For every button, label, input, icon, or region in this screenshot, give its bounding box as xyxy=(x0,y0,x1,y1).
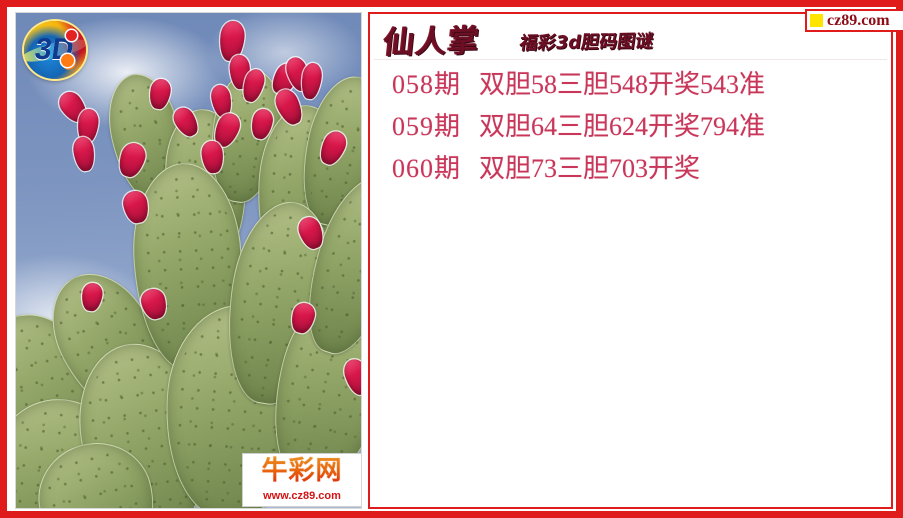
lottery-3d-ball-logo: 3D xyxy=(24,21,86,79)
prediction-body: 双胆73三胆703开奖 xyxy=(479,154,700,183)
brand-badge: cz89.com xyxy=(805,9,903,32)
prediction-content-panel: 仙人掌 福彩3d胆码图谜 058期双胆58三胆548开奖543准 059期双胆6… xyxy=(368,12,893,509)
brand-badge-label: cz89.com xyxy=(827,13,890,29)
list-item: 058期双胆58三胆548开奖543准 xyxy=(370,72,891,98)
prediction-list: 058期双胆58三胆548开奖543准 059期双胆64三胆624开奖794准 … xyxy=(370,58,891,182)
list-item: 059期双胆64三胆624开奖794准 xyxy=(370,114,891,140)
prediction-period: 060期 xyxy=(392,154,461,183)
prediction-period: 058期 xyxy=(392,70,461,99)
title-divider xyxy=(374,59,887,60)
site-watermark: 牛彩网 www.cz89.com xyxy=(242,453,362,507)
prediction-period: 059期 xyxy=(392,112,461,141)
poster-frame: 3D 牛彩网 www.cz89.com 仙人掌 福彩3d胆码图谜 058期双胆5… xyxy=(0,0,903,518)
list-item: 060期双胆73三胆703开奖 xyxy=(370,156,891,182)
brand-swatch-icon xyxy=(810,14,823,27)
cactus-photo-panel: 3D 牛彩网 www.cz89.com xyxy=(15,12,362,509)
prediction-body: 双胆64三胆624开奖794准 xyxy=(479,112,765,141)
watermark-url: www.cz89.com xyxy=(243,488,361,504)
watermark-site-name: 牛彩网 xyxy=(243,454,361,488)
logo-orange-dot-icon xyxy=(61,54,74,67)
prediction-body: 双胆58三胆548开奖543准 xyxy=(479,70,765,99)
page-title: 仙人掌 xyxy=(382,15,483,62)
page-subtitle: 福彩3d胆码图谜 xyxy=(518,27,655,55)
